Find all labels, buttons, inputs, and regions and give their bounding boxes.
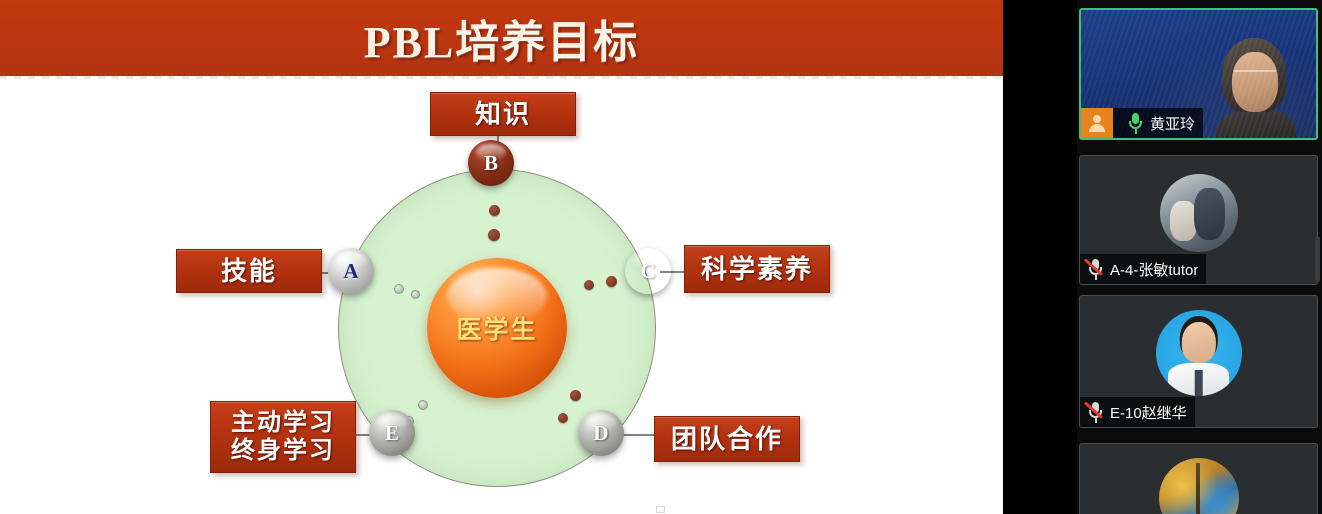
plaque-learning-line-2: 终身学习 <box>231 437 335 465</box>
avatar <box>1159 458 1239 514</box>
node-sphere-a[interactable]: A <box>328 248 374 294</box>
microphone-icon <box>1128 113 1143 134</box>
plaque-science-literacy: 科学素养 <box>684 245 830 293</box>
node-sphere-c[interactable]: C <box>625 248 671 294</box>
participant-nameplate: A-4-张敏tutor <box>1080 254 1206 284</box>
avatar <box>1156 310 1242 396</box>
pbl-goals-diagram: 医学生 A <box>0 76 1003 514</box>
plaque-skill: 技能 <box>176 249 322 293</box>
node-label-a: A <box>343 259 358 284</box>
connector-dot <box>488 229 500 241</box>
plaque-teamwork: 团队合作 <box>654 416 800 462</box>
participant-tile-active-speaker[interactable]: 黄亚玲 <box>1079 8 1318 140</box>
microphone-muted-icon <box>1088 402 1103 423</box>
host-bust-icon <box>1081 108 1113 138</box>
filmstrip-scrollbar[interactable] <box>1315 236 1320 282</box>
connector-dot <box>418 400 428 410</box>
page-title: PBL培养目标 <box>364 6 640 70</box>
node-sphere-b[interactable]: B <box>468 140 514 186</box>
connector-dot <box>570 390 581 401</box>
connector-dot <box>394 284 404 294</box>
plaque-knowledge: 知识 <box>430 92 576 136</box>
participant-tile[interactable]: A-4-张敏tutor <box>1079 155 1318 285</box>
connector-dot <box>489 205 500 216</box>
participant-nameplate: 黄亚玲 <box>1081 108 1203 138</box>
connector-dot <box>606 276 617 287</box>
participant-tile[interactable]: E-10赵继华 <box>1079 295 1318 428</box>
slide-cursor-artifact <box>656 506 665 513</box>
connector-dot <box>558 413 568 423</box>
plaque-learning: 主动学习 终身学习 <box>210 401 356 473</box>
person-silhouette <box>1214 36 1298 140</box>
center-sphere: 医学生 <box>427 258 567 398</box>
center-sphere-label: 医学生 <box>456 310 537 346</box>
node-label-b: B <box>484 151 498 176</box>
leader-line <box>623 434 655 436</box>
avatar <box>1160 174 1238 252</box>
participant-filmstrip: 黄亚玲 A-4-张敏tutor E-10赵继华 <box>1077 0 1322 514</box>
node-label-e: E <box>385 421 399 446</box>
connector-dot <box>411 290 420 299</box>
node-label-c: C <box>640 259 655 284</box>
shared-screen-slide: PBL培养目标 医学生 <box>0 0 1003 514</box>
plaque-learning-line-1: 主动学习 <box>231 409 335 437</box>
node-label-d: D <box>593 421 608 446</box>
plaque-skill-line-1: 技能 <box>221 256 277 287</box>
plaque-knowledge-line-1: 知识 <box>475 99 531 130</box>
microphone-muted-icon <box>1088 259 1103 280</box>
participant-name: E-10赵继华 <box>1110 402 1187 423</box>
participant-name: 黄亚玲 <box>1150 113 1195 134</box>
plaque-science-line-1: 科学素养 <box>701 254 813 285</box>
slide-title-bar: PBL培养目标 <box>0 0 1003 76</box>
connector-dot <box>584 280 594 290</box>
node-sphere-e[interactable]: E <box>369 410 415 456</box>
participant-nameplate: E-10赵继华 <box>1080 397 1195 427</box>
participant-name: A-4-张敏tutor <box>1110 259 1198 280</box>
plaque-team-line-1: 团队合作 <box>671 424 783 455</box>
meeting-screen: PBL培养目标 医学生 <box>0 0 1322 514</box>
participant-tile-partial[interactable] <box>1079 443 1318 514</box>
leader-line <box>354 434 370 436</box>
node-sphere-d[interactable]: D <box>578 410 624 456</box>
